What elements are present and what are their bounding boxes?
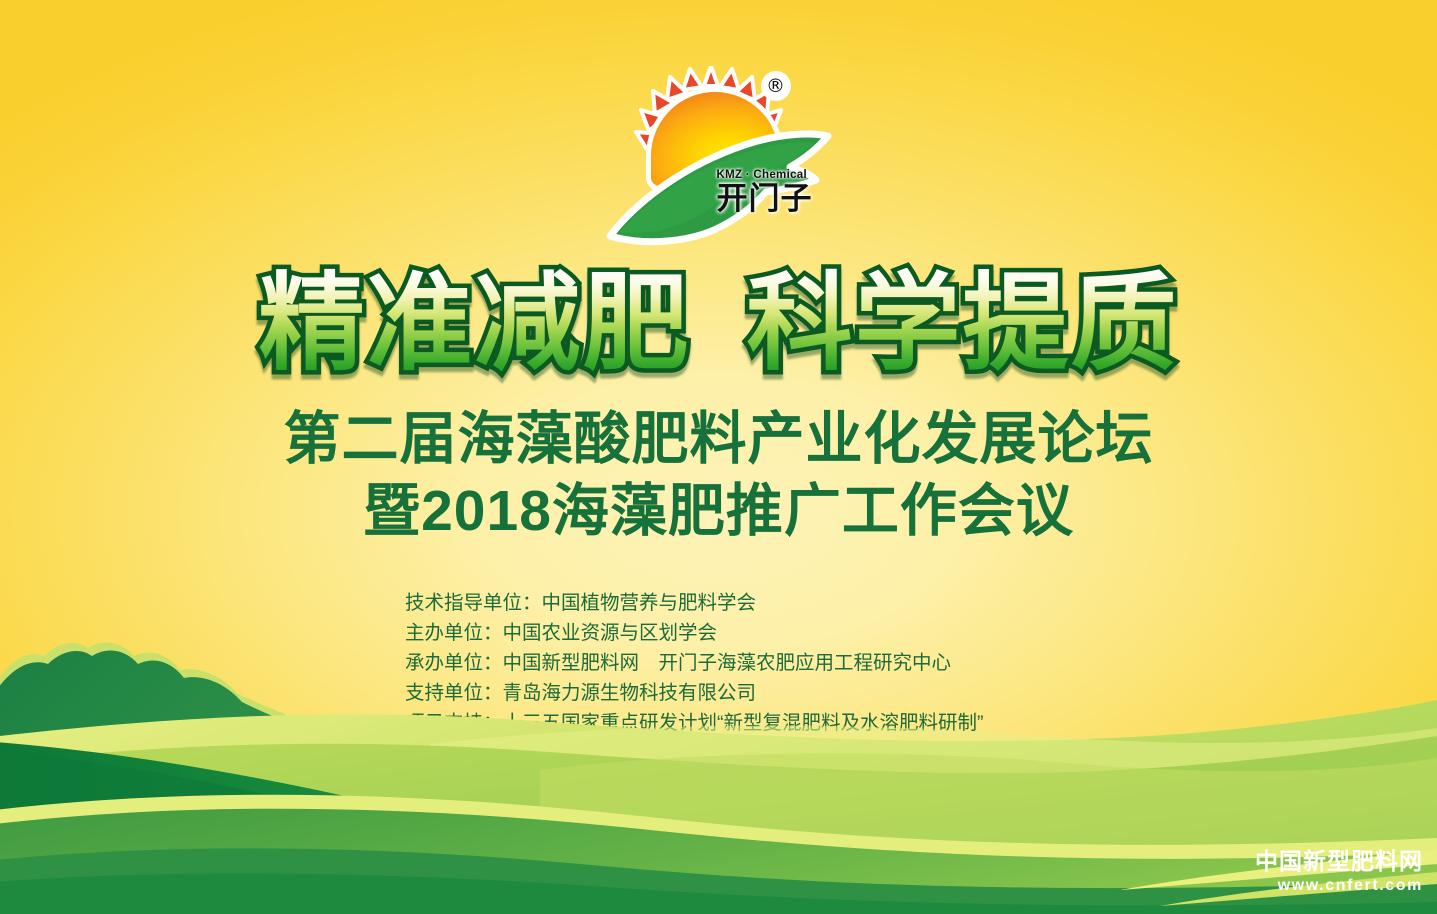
watermark-site-url: www.cnfert.com: [1255, 878, 1423, 894]
green-hills-illustration: [0, 624, 1437, 914]
brand-name-en: KMZ · Chemical: [717, 170, 832, 182]
conference-poster: KMZ · Chemical 开门子 ® 精准减肥科学提质 精准减肥科学提质 精…: [0, 0, 1437, 914]
watermark-site-name: 中国新型肥料网: [1255, 850, 1423, 873]
poster-headline: 精准减肥科学提质 精准减肥科学提质 精准减肥科学提质: [0, 268, 1437, 380]
headline-part2: 科学提质: [747, 265, 1179, 383]
headline-part1: 精准减肥: [259, 265, 691, 383]
company-logo: KMZ · Chemical 开门子 ®: [0, 58, 1437, 248]
organizer-line-technical-guidance: 技术指导单位：中国植物营养与肥料学会: [405, 588, 984, 618]
subtitle-line-2: 暨2018海藻肥推广工作会议: [0, 478, 1437, 544]
brand-lockup: KMZ · Chemical 开门子: [717, 170, 832, 214]
poster-subtitle: 第二届海藻酸肥料产业化发展论坛 暨2018海藻肥推广工作会议: [0, 406, 1437, 544]
brand-name-cn: 开门子: [717, 183, 832, 214]
headline-fill-layer: 精准减肥科学提质: [0, 268, 1437, 380]
registered-mark-glyph: ®: [766, 77, 785, 96]
subtitle-line-1: 第二届海藻酸肥料产业化发展论坛: [0, 406, 1437, 472]
site-watermark: 中国新型肥料网 www.cnfert.com: [1255, 850, 1423, 894]
registered-trademark-icon: ®: [761, 71, 791, 101]
